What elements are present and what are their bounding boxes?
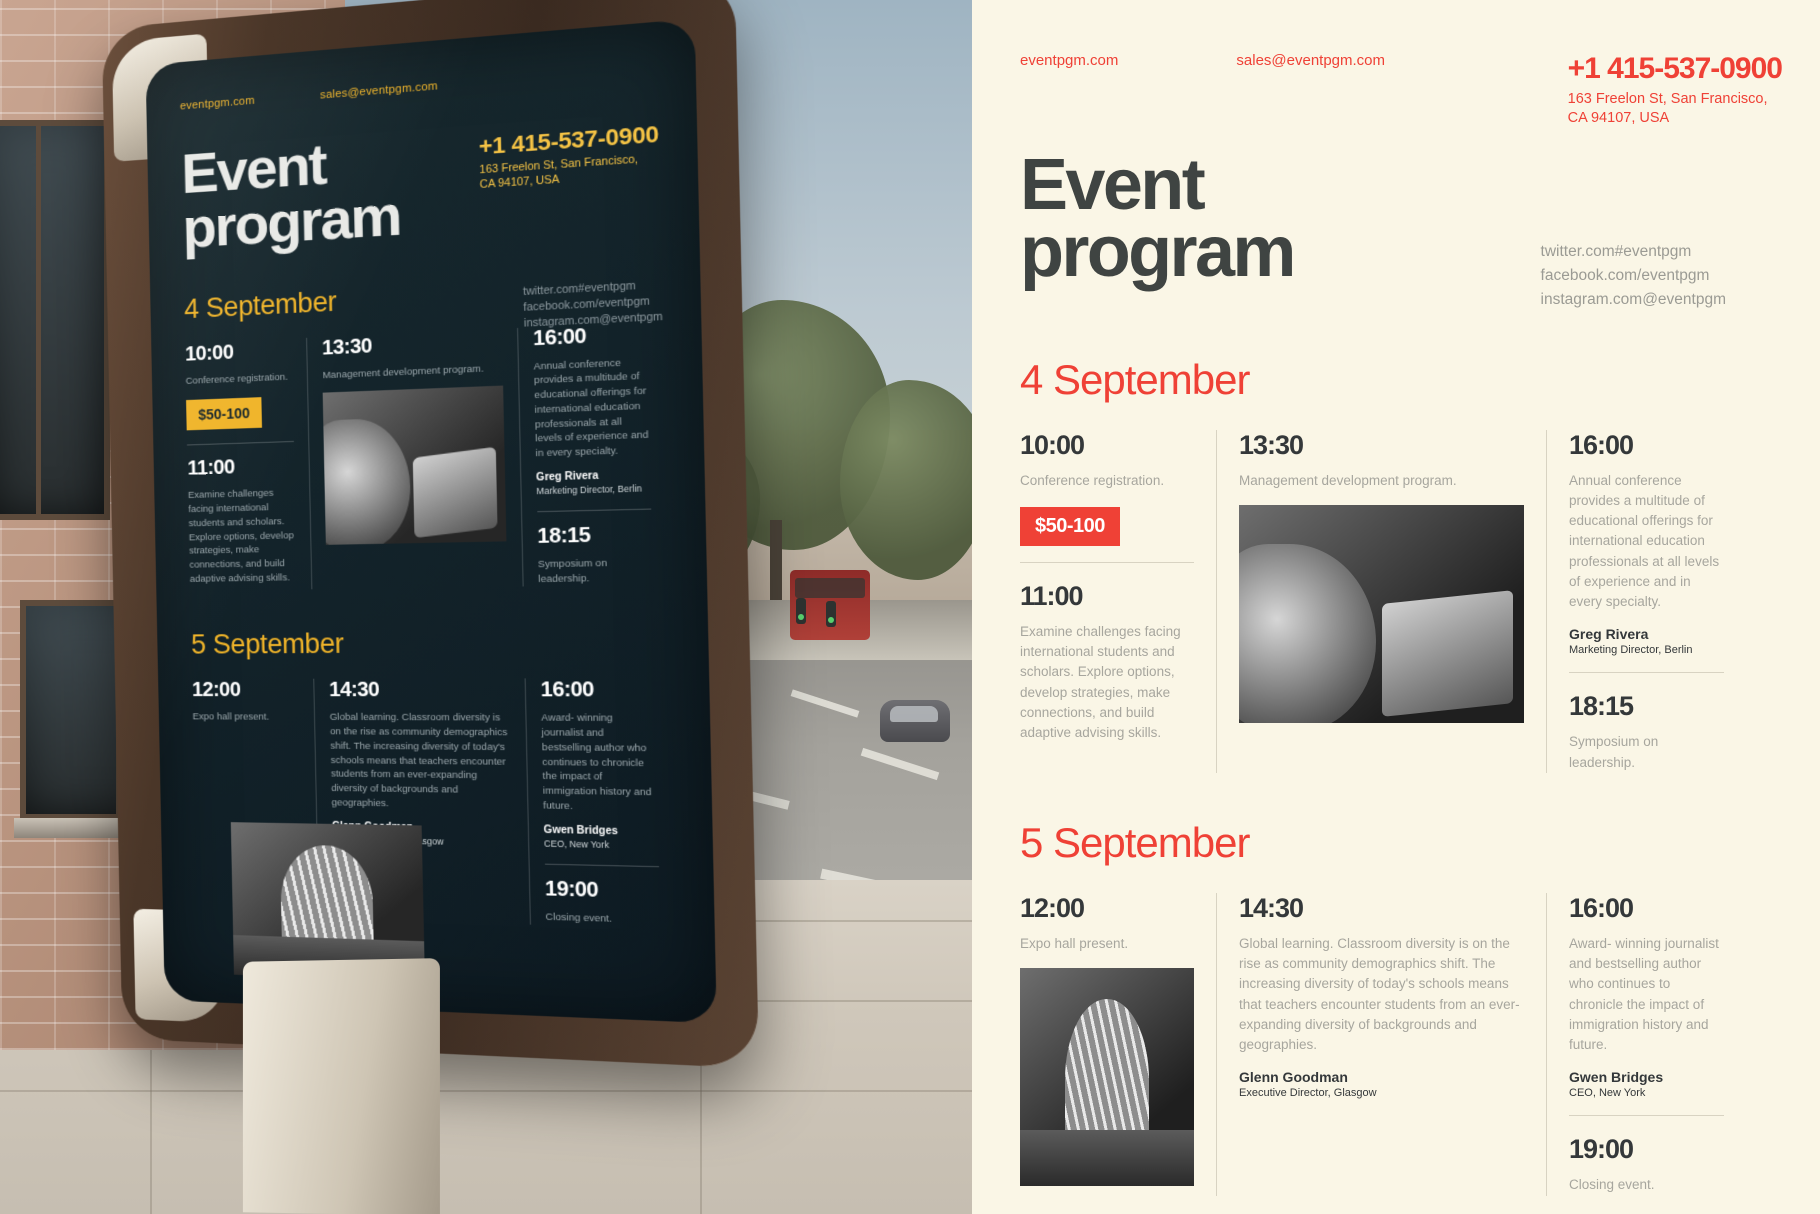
address-line2: CA 94107, USA xyxy=(1568,109,1782,128)
billboard-speaker-role: Marketing Director, Berlin xyxy=(536,483,651,497)
billboard-social-links: twitter.com#eventpgm facebook.com/eventp… xyxy=(523,277,663,331)
divider xyxy=(1569,672,1724,673)
billboard-price-badge: $50-100 xyxy=(186,397,262,430)
poster-mockup-page: eventpgm.com sales@eventpgm.com +1 415-5… xyxy=(0,0,1820,1214)
twitter-link[interactable]: twitter.com#eventpgm xyxy=(1541,240,1726,264)
title-line2: program xyxy=(1020,219,1294,287)
billboard-contact-row: eventpgm.com sales@eventpgm.com xyxy=(180,63,658,113)
session-desc: Expo hall present. xyxy=(1020,934,1194,954)
phone-number[interactable]: +1 415-537-0900 xyxy=(1568,52,1782,86)
website-link[interactable]: eventpgm.com xyxy=(1020,52,1118,69)
session-time: 19:00 xyxy=(1569,1134,1724,1165)
billboard-time: 14:30 xyxy=(329,679,510,703)
billboard-website: eventpgm.com xyxy=(180,95,255,113)
billboard-email: sales@eventpgm.com xyxy=(320,80,438,102)
car-window xyxy=(890,706,938,722)
billboard-desc: Closing event. xyxy=(545,910,660,928)
session-desc: Annual conference provides a multitude o… xyxy=(1569,471,1724,613)
price-badge[interactable]: $50-100 xyxy=(1020,507,1120,546)
billboard-desc: Expo hall present. xyxy=(192,711,300,725)
divider xyxy=(1020,562,1194,563)
speaker-role: Marketing Director, Berlin xyxy=(1569,644,1724,656)
session-time: 14:30 xyxy=(1239,893,1524,924)
speaker-name: Gwen Bridges xyxy=(1569,1069,1724,1085)
conference-discussion-photo xyxy=(323,386,506,545)
billboard-column: 16:00 Award- winning journalist and best… xyxy=(524,679,676,929)
billboard-phone-block: +1 415-537-0900 163 Freelon St, San Fran… xyxy=(479,120,660,192)
billboard-speaker-name: Gwen Bridges xyxy=(544,824,659,838)
session-desc: Closing event. xyxy=(1569,1175,1724,1195)
schedule-column: 16:00 Annual conference provides a multi… xyxy=(1546,430,1746,773)
day2-schedule-grid: 12:00 Expo hall present. 14:30 Global le… xyxy=(1020,893,1782,1196)
divider xyxy=(544,863,659,867)
billboard-column: 13:30 Management development program. xyxy=(306,328,522,590)
billboard-poster: eventpgm.com sales@eventpgm.com +1 415-5… xyxy=(146,19,717,1024)
speaker-name: Greg Rivera xyxy=(1569,626,1724,642)
divider xyxy=(187,441,294,446)
billboard-desc: Award- winning journalist and bestsellin… xyxy=(541,712,658,816)
session-desc: Global learning. Classroom diversity is … xyxy=(1239,934,1524,1056)
billboard: eventpgm.com sales@eventpgm.com +1 415-5… xyxy=(102,0,759,1069)
day-heading-5-september: 5 September xyxy=(1020,819,1782,867)
billboard-column: 10:00 Conference registration. $50-100 1… xyxy=(185,337,312,591)
schedule-column: 16:00 Award- winning journalist and best… xyxy=(1546,893,1746,1196)
billboard-speaker-name: Greg Rivera xyxy=(536,469,651,484)
session-time: 13:30 xyxy=(1239,430,1524,461)
session-time: 10:00 xyxy=(1020,430,1194,461)
traffic-light-icon xyxy=(796,598,806,624)
divider xyxy=(1569,1115,1724,1116)
window xyxy=(0,120,110,520)
session-desc: Award- winning journalist and bestsellin… xyxy=(1569,934,1724,1056)
title-row: Event program twitter.com#eventpgm faceb… xyxy=(1020,152,1782,312)
billboard-day1-grid: 10:00 Conference registration. $50-100 1… xyxy=(185,321,669,592)
page-title: Event program xyxy=(1020,152,1294,312)
session-desc: Management development program. xyxy=(1239,471,1524,491)
session-time: 18:15 xyxy=(1569,691,1724,722)
schedule-column: 10:00 Conference registration. $50-100 1… xyxy=(1020,430,1216,773)
speaker-name: Glenn Goodman xyxy=(1239,1069,1524,1085)
billboard-desc: Management development program. xyxy=(322,361,502,383)
schedule-column: 12:00 Expo hall present. xyxy=(1020,893,1216,1196)
day1-schedule-grid: 10:00 Conference registration. $50-100 1… xyxy=(1020,430,1782,773)
expo-hall-architecture-photo xyxy=(1020,968,1194,1186)
contact-row: eventpgm.com sales@eventpgm.com +1 415-5… xyxy=(1020,52,1782,128)
bus-window xyxy=(795,578,865,598)
billboard-pedestal xyxy=(243,958,440,1214)
schedule-column: 14:30 Global learning. Classroom diversi… xyxy=(1216,893,1546,1196)
title-line1: Event xyxy=(1020,152,1294,220)
billboard-time: 18:15 xyxy=(537,522,652,549)
session-time: 16:00 xyxy=(1569,430,1724,461)
session-time: 16:00 xyxy=(1569,893,1724,924)
session-time: 11:00 xyxy=(1020,581,1194,612)
phone-block: +1 415-537-0900 163 Freelon St, San Fran… xyxy=(1568,52,1782,128)
social-links: twitter.com#eventpgm facebook.com/eventp… xyxy=(1541,152,1782,312)
billboard-desc: Examine challenges facing international … xyxy=(188,486,297,586)
conference-discussion-photo xyxy=(1239,505,1524,723)
billboard-desc: Conference registration. xyxy=(186,370,293,388)
billboard-time: 11:00 xyxy=(187,455,295,482)
billboard-column: 16:00 Annual conference provides a multi… xyxy=(517,321,669,587)
schedule-column: 13:30 Management development program. xyxy=(1216,430,1546,773)
billboard-desc: Annual conference provides a multitude o… xyxy=(534,355,650,462)
facebook-link[interactable]: facebook.com/eventpgm xyxy=(1541,264,1726,288)
traffic-light-icon xyxy=(826,601,836,627)
poster-flat-layout: eventpgm.com sales@eventpgm.com +1 415-5… xyxy=(972,0,1820,1214)
billboard-desc: Global learning. Classroom diversity is … xyxy=(330,711,512,813)
speaker-role: Executive Director, Glasgow xyxy=(1239,1087,1524,1099)
billboard-time: 16:00 xyxy=(540,679,655,704)
session-desc: Symposium on leadership. xyxy=(1569,732,1724,773)
session-time: 12:00 xyxy=(1020,893,1194,924)
session-desc: Conference registration. xyxy=(1020,471,1194,491)
billboard-time: 19:00 xyxy=(545,877,660,904)
day-heading-4-september: 4 September xyxy=(1020,356,1782,404)
billboard-time: 10:00 xyxy=(185,338,292,366)
billboard-day-heading: 5 September xyxy=(191,626,670,661)
street-billboard-photo: eventpgm.com sales@eventpgm.com +1 415-5… xyxy=(0,0,972,1214)
speaker-role: CEO, New York xyxy=(1569,1087,1724,1099)
session-desc: Examine challenges facing international … xyxy=(1020,622,1194,744)
billboard-desc: Symposium on leadership. xyxy=(538,556,653,587)
instagram-link[interactable]: instagram.com@eventpgm xyxy=(1541,288,1726,312)
billboard-time: 12:00 xyxy=(192,679,300,703)
email-link[interactable]: sales@eventpgm.com xyxy=(1236,52,1385,69)
billboard-speaker-role: CEO, New York xyxy=(544,838,659,851)
divider xyxy=(537,508,651,512)
address-line1: 163 Freelon St, San Francisco, xyxy=(1568,90,1782,109)
billboard-time: 13:30 xyxy=(322,328,502,360)
